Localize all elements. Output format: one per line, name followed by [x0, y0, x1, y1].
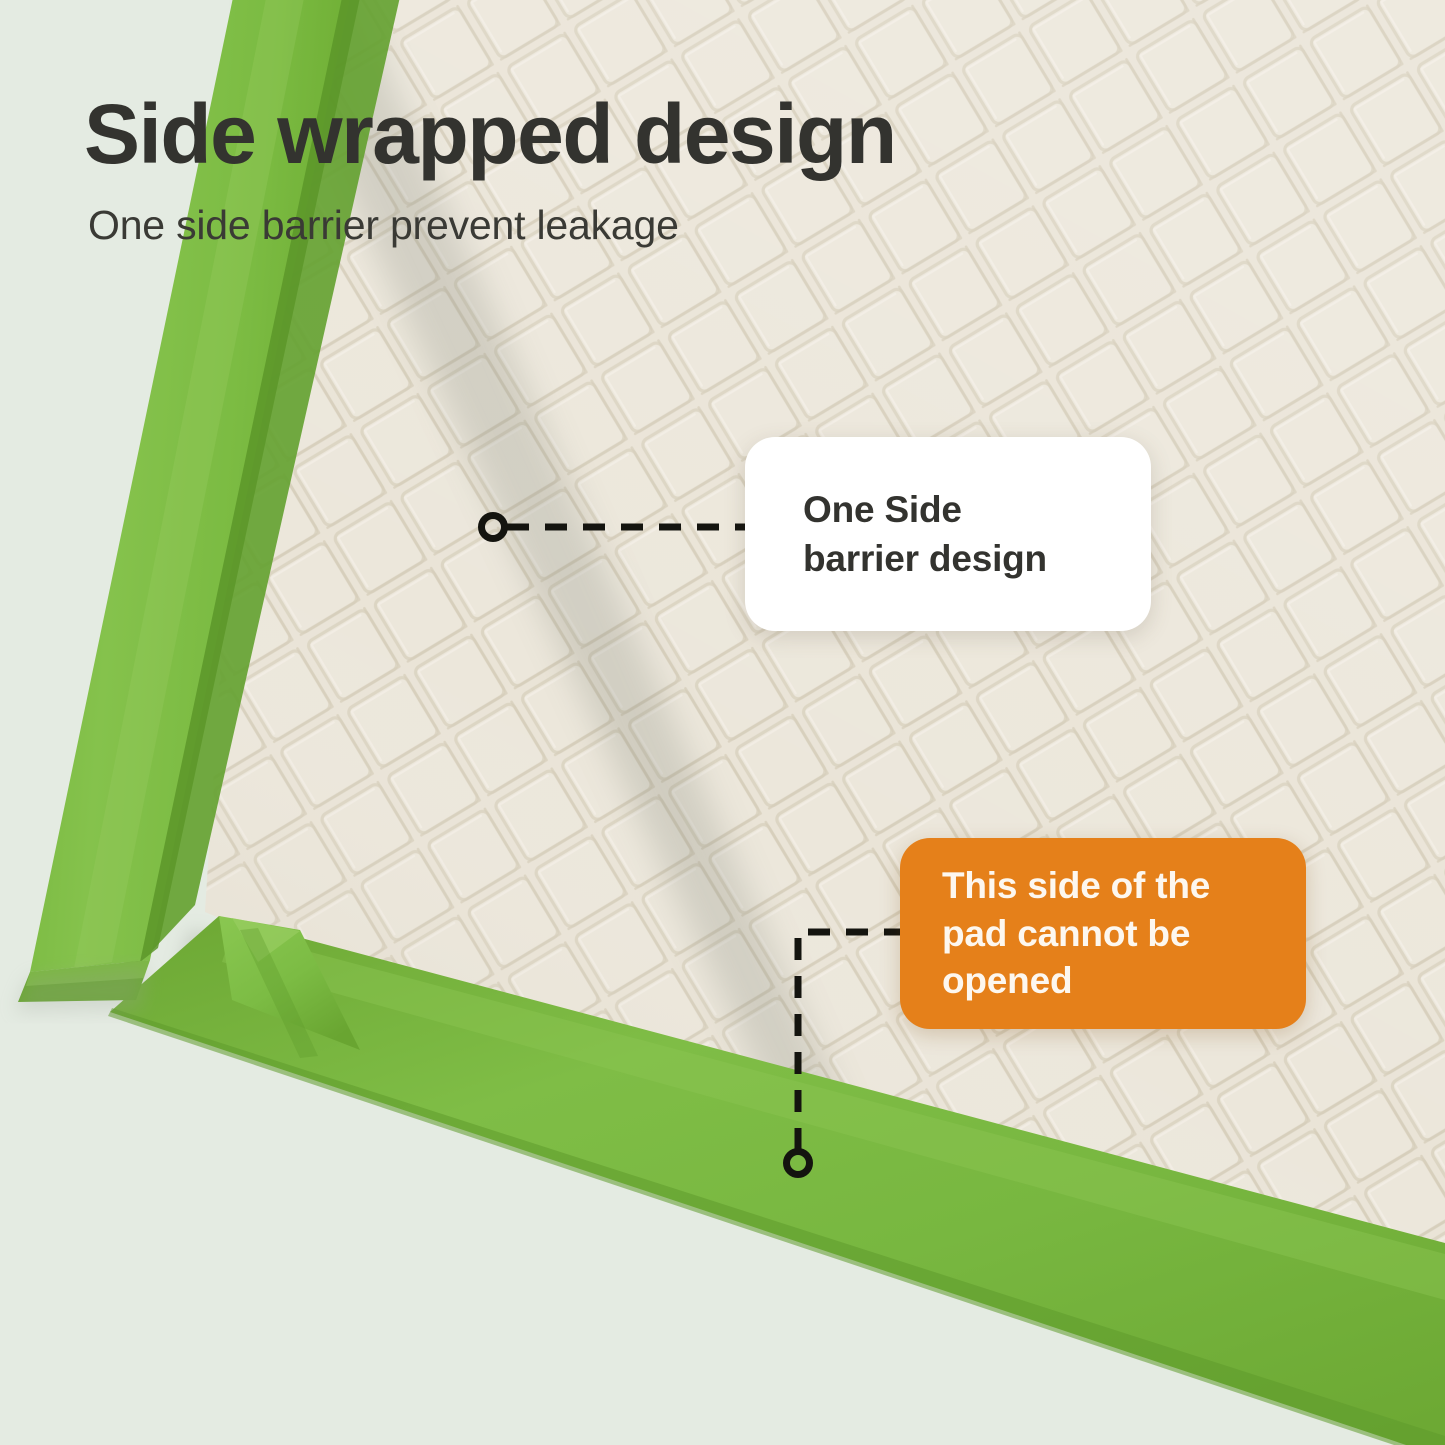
- callout-cannot-be-opened: This side of the pad cannot be opened: [900, 838, 1306, 1029]
- callout-one-side-barrier-label: One Side barrier design: [803, 485, 1047, 583]
- callout-cannot-be-opened-label: This side of the pad cannot be opened: [942, 862, 1210, 1004]
- page-title: Side wrapped design: [84, 92, 896, 176]
- product-feature-graphic: Side wrapped design One side barrier pre…: [0, 0, 1445, 1445]
- page-subtitle: One side barrier prevent leakage: [88, 205, 679, 246]
- callout-one-side-barrier: One Side barrier design: [745, 437, 1151, 631]
